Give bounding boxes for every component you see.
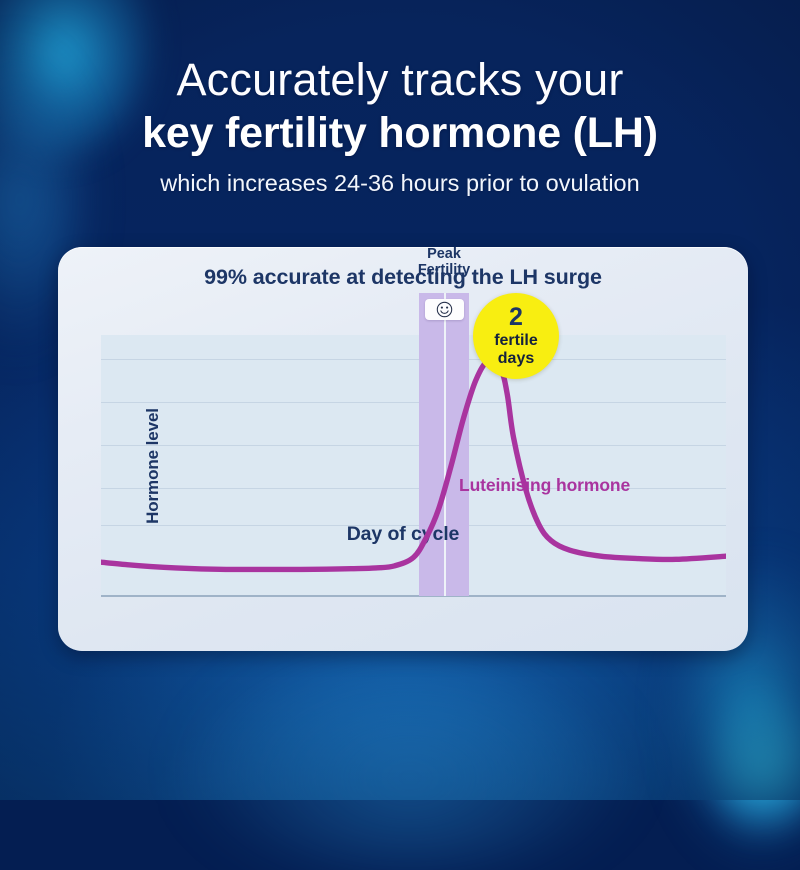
- headline-line-1: Accurately tracks your: [0, 56, 800, 105]
- badge-label-line-2: days: [498, 350, 534, 368]
- luteinising-hormone-curve: [101, 335, 726, 597]
- peak-fertility-line-1: Peak: [371, 247, 517, 263]
- headline-subtext: which increases 24-36 hours prior to ovu…: [0, 169, 800, 197]
- badge-label-line-1: fertile: [494, 332, 538, 350]
- headline-line-2: key fertility hormone (LH): [0, 108, 800, 159]
- smiley-face-icon: [436, 301, 453, 318]
- series-label-luteinising-hormone: Luteinising hormone: [459, 475, 630, 496]
- headline-block: Accurately tracks your key fertility hor…: [0, 56, 800, 198]
- ovulation-test-strip: [425, 299, 464, 320]
- peak-fertility-line-2: Fertility: [371, 263, 517, 279]
- fertile-days-badge: 2 fertile days: [473, 293, 559, 379]
- badge-number: 2: [509, 305, 523, 330]
- chart-card: 99% accurate at detecting the LH surge P…: [58, 247, 748, 651]
- peak-fertility-label: Peak Fertility: [371, 247, 517, 279]
- chart-plot-area: Peak Fertility 2 fertile days Luteinisin…: [101, 335, 726, 597]
